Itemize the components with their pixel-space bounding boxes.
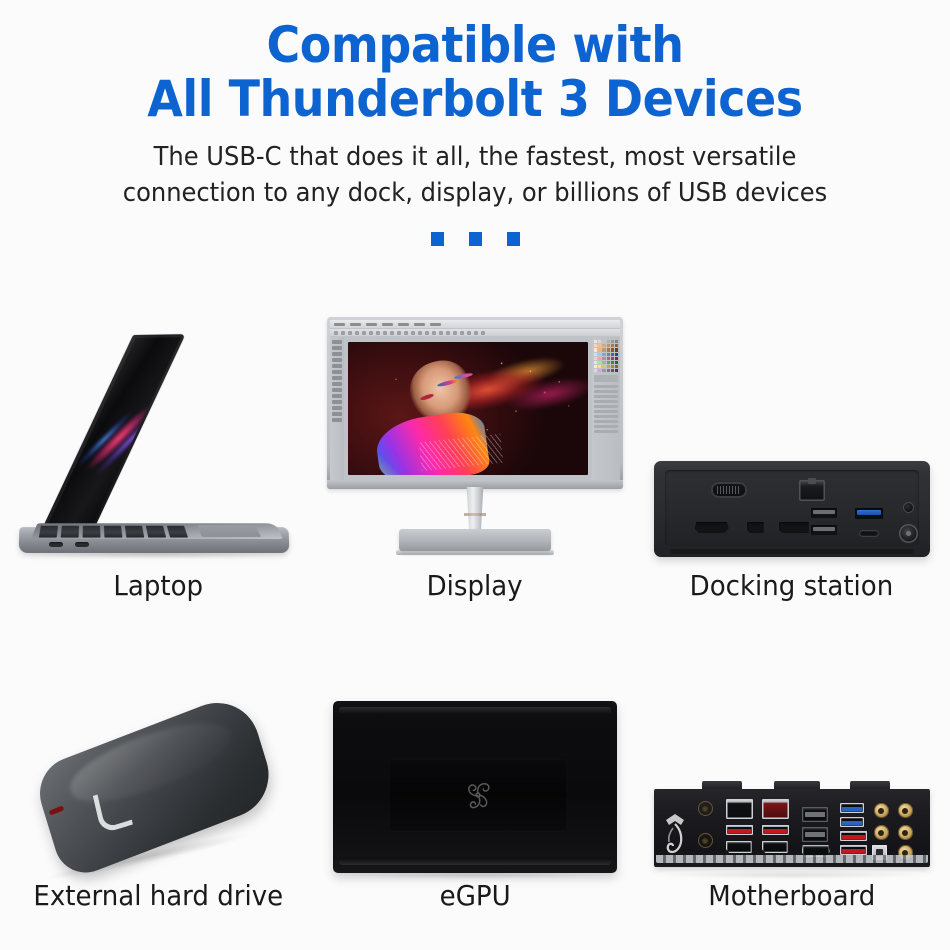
headline-line-1: Compatible with: [38, 18, 912, 72]
displayport-icon: [779, 522, 809, 533]
device-row-1: Laptop: [0, 292, 950, 602]
headline-line-2: All Thunderbolt 3 Devices: [38, 72, 912, 126]
color-swatch: [594, 344, 597, 347]
color-swatch: [602, 344, 605, 347]
egpu-chassis: [333, 701, 617, 873]
app-palette-icon: [332, 358, 342, 362]
antenna-connector-icon: [698, 833, 713, 848]
monitor-stand-ring: [464, 513, 486, 516]
color-swatch: [611, 340, 614, 343]
device-cell-docking-station: Docking station: [633, 292, 950, 602]
laptop-deck: [31, 523, 283, 539]
app-tool-icon: [481, 331, 485, 335]
app-tool-icon: [376, 331, 380, 335]
app-workspace: [330, 337, 620, 480]
photo-particles: [348, 342, 588, 475]
color-swatch: [598, 344, 601, 347]
caption-docking-station: Docking station: [690, 569, 894, 602]
display-illustration: [325, 317, 625, 569]
app-panel-row: [594, 425, 618, 428]
usb-port-red-icon: [726, 825, 753, 835]
antenna-connector-icon: [698, 801, 713, 816]
motherboard-shadow: [664, 871, 920, 879]
color-swatch: [607, 365, 610, 368]
color-swatch: [598, 361, 601, 364]
color-swatch: [611, 344, 614, 347]
egpu-illustration: [329, 697, 621, 879]
egpu-window-panel: [389, 759, 567, 831]
app-panel-row: [594, 385, 618, 388]
color-swatch: [607, 353, 610, 356]
laptop-illustration: [13, 339, 303, 569]
app-tool-palette: [330, 337, 344, 480]
mini-displayport-icon: [747, 522, 764, 533]
app-tool-icon: [334, 331, 338, 335]
color-swatch: [615, 357, 618, 360]
docking-station-art: [633, 292, 950, 569]
color-swatch: [602, 365, 605, 368]
color-swatch: [598, 353, 601, 356]
caption-display: Display: [427, 569, 523, 602]
egpu-top-lip: [339, 707, 611, 715]
app-tool-icon: [460, 331, 464, 335]
egpu-art: [317, 602, 634, 879]
app-palette-icon: [332, 376, 342, 380]
color-swatch: [602, 369, 605, 372]
laptop-trackpad: [198, 525, 262, 537]
monitor-bezel: [327, 317, 623, 489]
displayport-icon: [726, 841, 752, 853]
app-tool-icon: [404, 331, 408, 335]
color-swatch: [611, 357, 614, 360]
laptop-thunderbolt-ports: [49, 542, 89, 547]
caption-laptop: Laptop: [113, 569, 203, 602]
ethernet-port-icon: [726, 799, 753, 819]
monitor-base: [399, 529, 551, 551]
color-swatch: [598, 369, 601, 372]
audio-jack-icon: [874, 803, 889, 818]
motherboard-io-shield: [654, 789, 930, 867]
color-swatch: [594, 348, 597, 351]
laptop-lid-gloss: [41, 334, 186, 531]
color-swatch: [615, 361, 618, 364]
device-cell-display: Display: [317, 292, 634, 602]
divider-dot-1: [431, 232, 444, 246]
color-swatch: [607, 369, 610, 372]
color-swatch: [594, 365, 597, 368]
hdmi-port-icon: [695, 522, 729, 533]
color-swatch: [607, 361, 610, 364]
usb-a-port-icon: [811, 508, 837, 518]
color-swatch: [607, 348, 610, 351]
color-swatch: [615, 348, 618, 351]
falcon-logo-icon: [660, 811, 690, 855]
io-shield-rail: [656, 855, 928, 863]
audio-jack-icon: [898, 825, 913, 840]
app-palette-icon: [332, 340, 342, 344]
color-swatch: [611, 348, 614, 351]
app-palette-icon: [332, 364, 342, 368]
laptop-keyboard: [39, 526, 188, 538]
color-swatch: [594, 369, 597, 372]
external-ssd-illustration: [23, 714, 293, 879]
color-swatch: [611, 365, 614, 368]
usb-port-red-icon: [840, 845, 867, 855]
app-tool-icon: [390, 331, 394, 335]
audio-jack-icon: [903, 502, 914, 513]
app-tool-icon: [432, 331, 436, 335]
displayport-icon: [762, 841, 788, 853]
motherboard-art: [633, 602, 950, 879]
egpu-bottom-lip: [339, 858, 611, 865]
app-tool-icon: [467, 331, 471, 335]
app-tool-icon: [453, 331, 457, 335]
app-menu-bar: [330, 320, 620, 329]
subtitle: The USB-C that does it all, the fastest,…: [33, 140, 917, 212]
app-tool-icon: [474, 331, 478, 335]
app-tool-icon: [369, 331, 373, 335]
external-ssd-art: [0, 602, 317, 879]
color-swatch: [594, 357, 597, 360]
infographic-page: Compatible with All Thunderbolt 3 Device…: [0, 0, 950, 950]
usb-port-red-icon: [762, 825, 789, 835]
app-panel-row: [594, 410, 618, 413]
usb-3-port-icon: [855, 508, 883, 519]
app-panel-row: [594, 420, 618, 423]
app-palette-icon: [332, 406, 342, 410]
app-panel-row: [594, 405, 618, 408]
divider-dots: [0, 232, 950, 246]
subtitle-line-1: The USB-C that does it all, the fastest,…: [33, 140, 917, 176]
app-layer-rows: [594, 385, 618, 433]
portrait-photo: [348, 342, 588, 475]
device-cell-laptop: Laptop: [0, 292, 317, 602]
device-cell-external-hard-drive: External hard drive: [0, 602, 317, 912]
color-swatch: [594, 353, 597, 356]
app-tool-icon: [348, 331, 352, 335]
audio-jack-icon: [874, 825, 889, 840]
color-swatches: [594, 340, 618, 372]
color-swatch: [615, 344, 618, 347]
app-tool-icon: [439, 331, 443, 335]
app-swatch-panel: [592, 337, 620, 480]
app-palette-icon: [332, 394, 342, 398]
app-panel-row: [594, 415, 618, 418]
ethernet-port-icon: [762, 799, 789, 819]
color-swatch: [615, 340, 618, 343]
app-panel-row: [594, 400, 618, 403]
app-tool-icon: [425, 331, 429, 335]
color-swatch: [602, 340, 605, 343]
page-title: Compatible with All Thunderbolt 3 Device…: [38, 18, 912, 126]
power-port-icon: [899, 524, 918, 543]
app-panel-row: [594, 390, 618, 393]
color-swatch: [602, 353, 605, 356]
color-swatch: [607, 340, 610, 343]
color-swatch: [607, 357, 610, 360]
color-swatch: [598, 357, 601, 360]
app-palette-icon: [332, 352, 342, 356]
app-tool-icon: [362, 331, 366, 335]
usb-c-port-icon: [859, 530, 879, 537]
device-grid: Laptop: [0, 292, 950, 912]
ssd-gloss: [64, 706, 237, 818]
color-swatch: [611, 353, 614, 356]
monitor-screen: [330, 320, 620, 480]
dock-foot: [670, 549, 914, 554]
usb-3-port-icon: [840, 803, 864, 813]
usb-port-red-icon: [840, 831, 867, 841]
color-swatch: [615, 365, 618, 368]
app-palette-icon: [332, 412, 342, 416]
vga-pins: [717, 486, 741, 494]
motherboard-illustration: [654, 775, 930, 879]
app-tool-bar: [330, 329, 620, 337]
color-swatch: [594, 361, 597, 364]
usb-c-port-icon: [75, 542, 89, 547]
color-swatch: [594, 340, 597, 343]
laptop-art: [0, 292, 317, 569]
app-panel-row: [594, 430, 618, 433]
usb-a-port-icon: [802, 807, 828, 822]
divider-dot-3: [507, 232, 520, 246]
app-tool-icon: [355, 331, 359, 335]
audio-jack-icon: [898, 803, 913, 818]
color-swatch: [598, 365, 601, 368]
app-panel-header: [594, 375, 618, 382]
app-palette-icon: [332, 388, 342, 392]
app-panel-row: [594, 395, 618, 398]
ethernet-port-icon: [799, 480, 825, 501]
app-palette-icon: [332, 346, 342, 350]
device-row-2: External hard drive: [0, 602, 950, 912]
device-cell-egpu: eGPU: [317, 602, 634, 912]
device-cell-motherboard: Motherboard: [633, 602, 950, 912]
subtitle-line-2: connection to any dock, display, or bill…: [33, 176, 917, 212]
app-palette-icon: [332, 370, 342, 374]
app-tool-icon: [397, 331, 401, 335]
laptop-lid: [41, 334, 186, 531]
app-tool-icon: [341, 331, 345, 335]
docking-station-illustration: [654, 449, 930, 569]
color-swatch: [615, 369, 618, 372]
color-swatch: [615, 353, 618, 356]
app-palette-icon: [332, 382, 342, 386]
color-swatch: [598, 348, 601, 351]
app-canvas: [344, 337, 592, 480]
color-swatch: [607, 344, 610, 347]
app-palette-icon: [332, 400, 342, 404]
caption-external-hard-drive: External hard drive: [33, 879, 283, 912]
color-swatch: [602, 361, 605, 364]
usb-c-port-icon: [49, 542, 63, 547]
color-swatch: [598, 340, 601, 343]
color-swatch: [611, 369, 614, 372]
usb-3-port-icon: [840, 817, 864, 827]
app-tool-icon: [418, 331, 422, 335]
color-swatch: [602, 357, 605, 360]
caption-egpu: eGPU: [439, 879, 510, 912]
divider-dot-2: [469, 232, 482, 246]
caption-motherboard: Motherboard: [708, 879, 875, 912]
app-tool-icon: [446, 331, 450, 335]
app-tool-icon: [411, 331, 415, 335]
dock-chassis: [654, 461, 930, 557]
app-tool-icon: [383, 331, 387, 335]
header: Compatible with All Thunderbolt 3 Device…: [0, 0, 950, 246]
color-swatch: [611, 361, 614, 364]
color-swatch: [602, 348, 605, 351]
display-art: [317, 292, 634, 569]
triple-snake-logo-icon: [457, 774, 499, 816]
dock-io-panel: [665, 470, 919, 546]
usb-a-port-icon: [802, 827, 828, 842]
app-palette-icon: [332, 418, 342, 422]
usb-a-port-icon: [811, 525, 837, 535]
